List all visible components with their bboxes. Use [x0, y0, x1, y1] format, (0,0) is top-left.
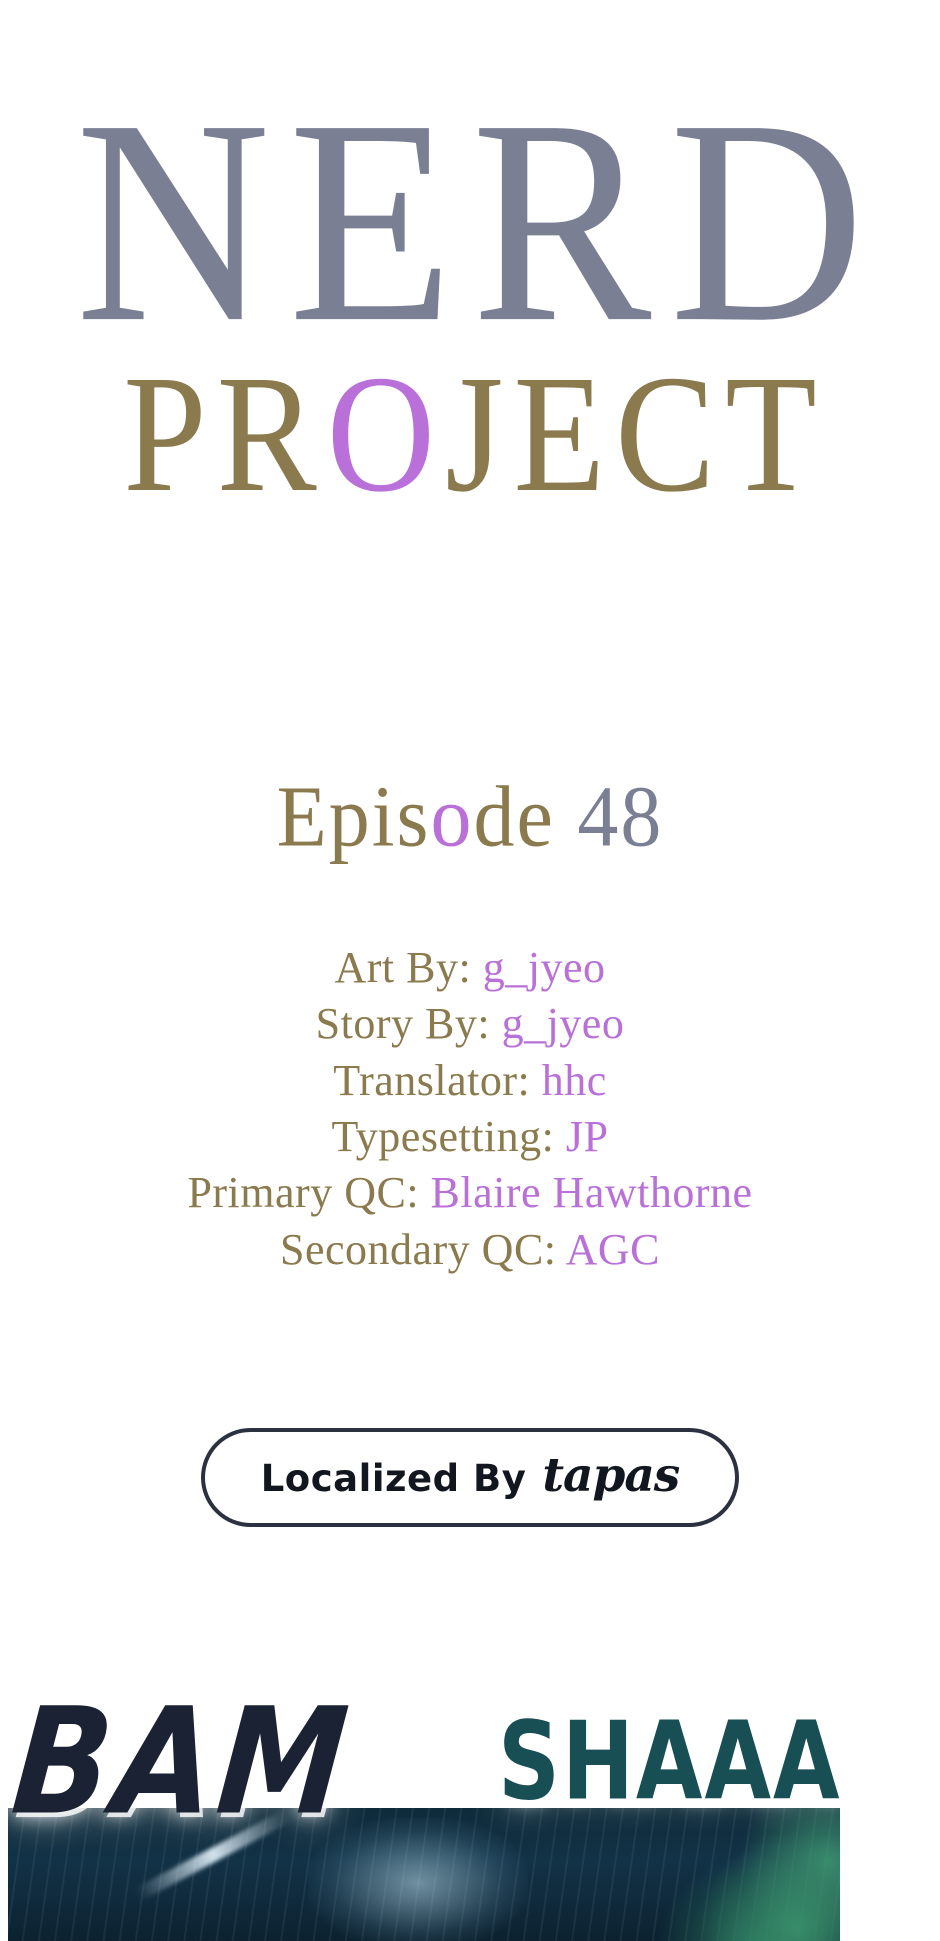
credit-value: g_jyeo [502, 999, 625, 1048]
sfx-bam-text: BAM [6, 1677, 358, 1848]
comic-page: NERD PROJECT Episode 48 Art By: g_jyeo S… [0, 0, 940, 1941]
episode-prefix: Epis [277, 768, 431, 864]
credit-value: AGC [566, 1225, 660, 1274]
credit-value: JP [566, 1112, 609, 1161]
title-line-nerd: NERD [0, 88, 940, 356]
foliage [620, 1808, 840, 1941]
credit-label: Translator: [333, 1056, 530, 1105]
credit-label: Art By: [335, 943, 472, 992]
localized-by-badge: Localized By tapas [201, 1428, 740, 1527]
credit-row: Translator: hhc [0, 1053, 940, 1109]
title-project-part-highlight: O [327, 341, 445, 527]
episode-suffix: de [473, 768, 577, 864]
localized-badge-wrapper: Localized By tapas [0, 1428, 940, 1527]
localized-by-label: Localized By [261, 1457, 527, 1500]
episode-highlight-letter: o [430, 768, 473, 864]
title-line-project: PROJECT [0, 350, 940, 518]
episode-number: 48 [577, 768, 663, 864]
credit-row: Secondary QC: AGC [0, 1222, 940, 1278]
title-project-part-3: JECT [445, 341, 827, 527]
episode-heading: Episode 48 [0, 767, 940, 867]
credit-row: Art By: g_jyeo [0, 940, 940, 996]
credit-value: hhc [542, 1056, 607, 1105]
credit-row: Primary QC: Blaire Hawthorne [0, 1165, 940, 1221]
credit-row: Typesetting: JP [0, 1109, 940, 1165]
title-project-part-1: PR [123, 341, 326, 527]
credit-value: g_jyeo [483, 943, 606, 992]
tapas-wordmark: tapas [542, 1448, 679, 1503]
credit-label: Typesetting: [332, 1112, 555, 1161]
credit-label: Story By: [316, 999, 490, 1048]
title-block: NERD PROJECT [0, 88, 940, 500]
credits-list: Art By: g_jyeo Story By: g_jyeo Translat… [0, 940, 940, 1278]
credit-row: Story By: g_jyeo [0, 996, 940, 1052]
credit-label: Secondary QC: [280, 1225, 557, 1274]
credit-value: Blaire Hawthorne [431, 1168, 753, 1217]
credit-label: Primary QC: [187, 1168, 419, 1217]
sfx-shaaa-text: SHAAA [498, 1700, 842, 1825]
